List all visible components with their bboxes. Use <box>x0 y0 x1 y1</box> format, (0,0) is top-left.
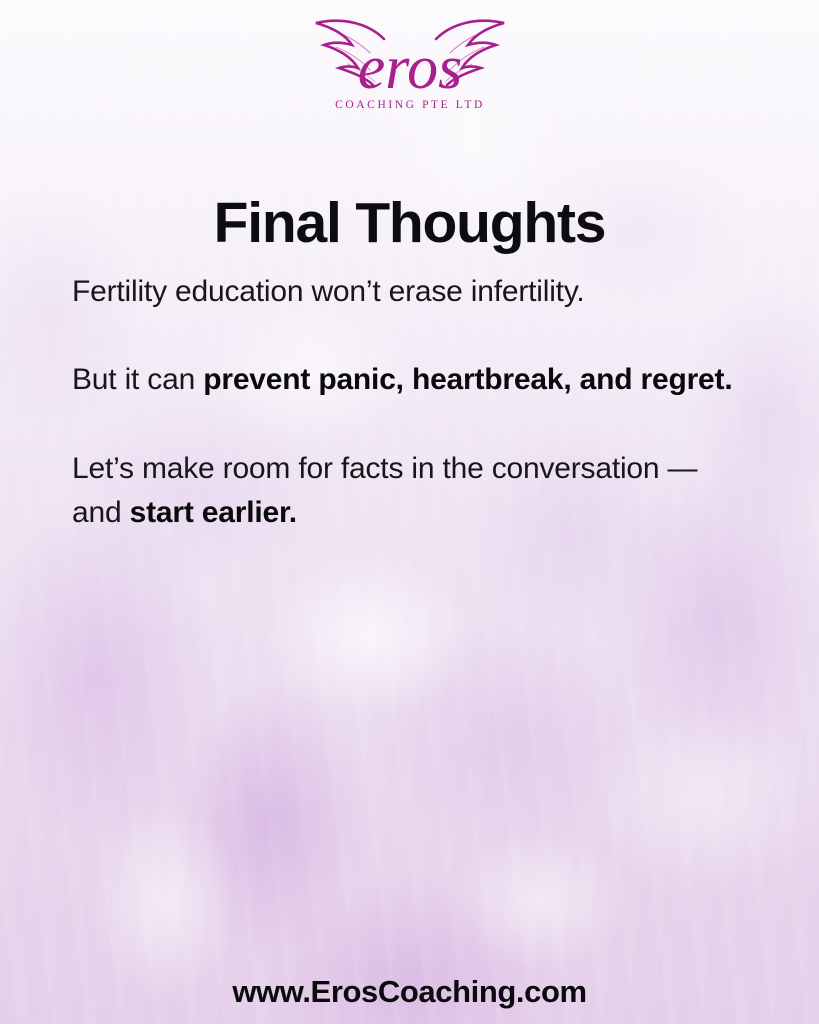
body-copy: Fertility education won’t erase infertil… <box>72 270 740 536</box>
page-title: Final Thoughts <box>0 194 819 254</box>
plain-text: Fertility education won’t erase infertil… <box>72 275 585 308</box>
footer-website[interactable]: www.ErosCoaching.com <box>0 974 819 1010</box>
slide-canvas: eros COACHING PTE LTD Final Thoughts Fer… <box>0 0 819 1024</box>
plain-text: But it can <box>72 363 203 396</box>
angel-wings-icon: eros COACHING PTE LTD <box>290 12 530 116</box>
paragraph-3: Let’s make room for facts in the convers… <box>72 447 740 536</box>
logo-wordmark: eros <box>357 34 461 102</box>
emphasis-text: start earlier. <box>130 496 297 529</box>
paragraph-1: Fertility education won’t erase infertil… <box>72 270 740 314</box>
emphasis-text: prevent panic, heartbreak, and regret. <box>203 363 732 396</box>
logo-tagline: COACHING PTE LTD <box>335 99 485 111</box>
brand-logo: eros COACHING PTE LTD <box>0 12 819 116</box>
logo-lockup: eros COACHING PTE LTD <box>290 12 530 116</box>
paragraph-2: But it can prevent panic, heartbreak, an… <box>72 358 740 402</box>
